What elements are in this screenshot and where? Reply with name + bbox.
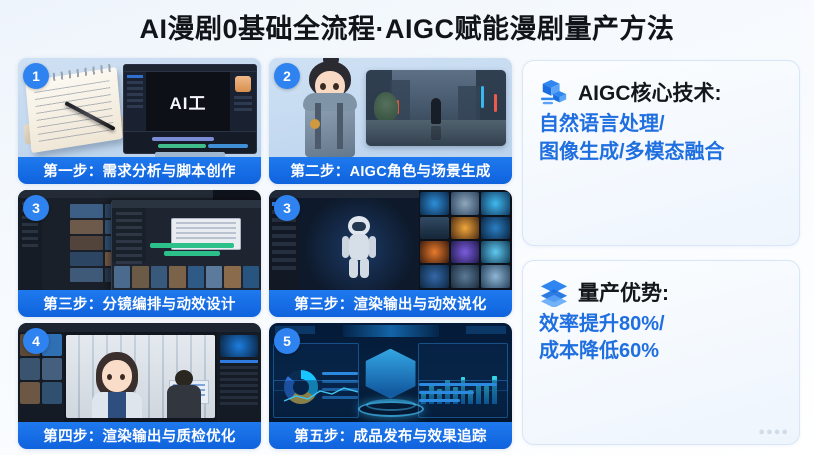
filmstrip (114, 266, 259, 288)
panel-2-title: 量产优势: (578, 277, 669, 307)
step-1-caption: 第一步：需求分析与脚本创作 (18, 157, 261, 184)
rainy-city-scene (366, 70, 506, 146)
step-6-badge: 5 (274, 328, 300, 354)
step-card-2[interactable]: 2 第二步：AIGC角色与场景生成 (269, 58, 512, 184)
metrics-list-panel (418, 380, 508, 418)
main-content: 1 AI工 第一步：需求分析与脚 (0, 52, 814, 455)
step-1-badge: 1 (23, 63, 49, 89)
character-avatar (295, 58, 365, 157)
panel-1-header: AIGC核心技术: (539, 77, 785, 107)
editor-screen: AI工 (123, 64, 257, 154)
panel-1-title: AIGC核心技术: (578, 77, 722, 107)
info-panels: AIGC核心技术: 自然语言处理/ 图像生成/多模态融合 量产优势: 效率提升8… (516, 52, 814, 455)
step-1-thumbnail: 1 AI工 (18, 58, 261, 157)
step-5-caption: 第四步：渲染输出与质检优化 (18, 422, 261, 449)
step-2-thumbnail: 2 (269, 58, 512, 157)
step-6-thumbnail: 5 (269, 323, 512, 422)
step-cards-grid: 1 AI工 第一步：需求分析与脚 (0, 52, 516, 455)
step-card-row-1: 1 AI工 第一步：需求分析与脚 (18, 58, 516, 184)
step-card-3[interactable]: 3 (18, 190, 261, 316)
monitor-stand (155, 152, 225, 157)
panel-1-line-1: 自然语言处理/ (539, 111, 785, 139)
line-chart (284, 385, 358, 405)
layers-icon (539, 277, 569, 307)
hexagon-icon (366, 349, 416, 399)
panel-2-header: 量产优势: (539, 277, 785, 307)
inspector-panel (217, 332, 261, 422)
step-4-thumbnail: 3 (269, 190, 512, 289)
step-3-caption: 第三步：分镜编排与动效设计 (18, 290, 261, 317)
panel-2-line-1: 效率提升80%/ (539, 311, 785, 339)
secondary-character (163, 370, 205, 418)
panel-1-line-2: 图像生成/多模态融合 (539, 139, 785, 167)
main-character (88, 352, 146, 418)
generated-image-grid (420, 192, 510, 287)
page-title: AI漫剧0基础全流程·AIGC赋能漫剧量产方法 (139, 7, 674, 46)
preview-canvas (66, 335, 215, 418)
step-2-badge: 2 (274, 63, 300, 89)
panel-2-line-2: 成本降低60% (539, 338, 785, 366)
step-card-1[interactable]: 1 AI工 第一步：需求分析与脚 (18, 58, 261, 184)
animation-editor-window (111, 200, 261, 289)
note-lines (34, 80, 114, 146)
screen-text: AI工 (170, 89, 207, 114)
step-card-4[interactable]: 3 (269, 190, 512, 316)
hologram-visual (354, 347, 428, 419)
step-card-row-3: 4 (18, 323, 516, 449)
step-2-caption: 第二步：AIGC角色与场景生成 (269, 157, 512, 184)
astronaut-render (341, 216, 377, 278)
panel-mass-production-advantages: 量产优势: 效率提升80%/ 成本降低60% ●●●● (522, 260, 800, 446)
cube-blocks-icon (539, 77, 569, 107)
step-5-badge: 4 (23, 328, 49, 354)
line-chart-panel (273, 380, 359, 418)
step-3-thumbnail: 3 (18, 190, 261, 289)
step-5-thumbnail: 4 (18, 323, 261, 422)
metrics-list (419, 383, 497, 407)
step-6-caption: 第五步：成品发布与效果追踪 (269, 422, 512, 449)
step-4-caption: 第三步：渲染输出与动效说化 (269, 290, 512, 317)
step-card-row-2: 3 (18, 190, 516, 316)
watermark: ●●●● (758, 426, 789, 438)
step-card-5[interactable]: 4 (18, 323, 261, 449)
page-header: AI漫剧0基础全流程·AIGC赋能漫剧量产方法 (0, 0, 814, 52)
panel-aigc-core-tech: AIGC核心技术: 自然语言处理/ 图像生成/多模态融合 (522, 60, 800, 246)
step-card-6[interactable]: 5 (269, 323, 512, 449)
dashboard-header (269, 323, 512, 339)
